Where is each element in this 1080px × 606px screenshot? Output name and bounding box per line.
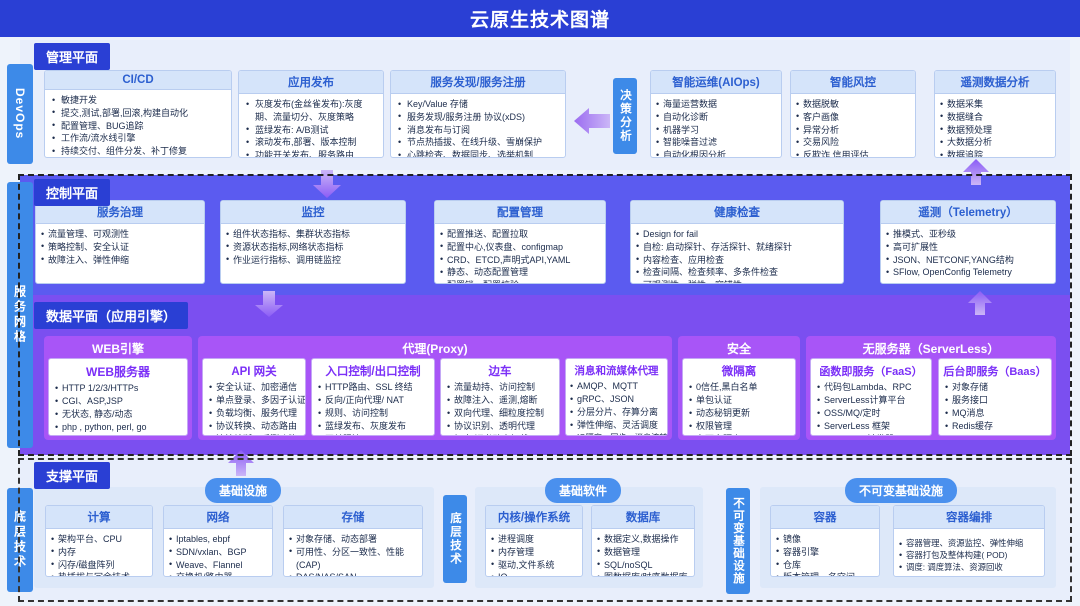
list-item: gRPC、JSON (570, 393, 662, 406)
list-item: 配置管理、BUG追踪 (50, 120, 226, 133)
arrow-down-to-data-plane (255, 291, 283, 317)
list-item: 协议转换、动态路由 (209, 420, 300, 433)
list-item: 自检: 启动探针、存活探针、就绪探针 (636, 241, 838, 254)
list-item: 容器引擎 (776, 546, 874, 559)
list-item: 内存 (51, 546, 147, 559)
card-message-stream-proxy-title: 消息和流媒体代理 (566, 359, 667, 380)
list-item: 弹性伸缩、灵活调度 (570, 419, 662, 432)
card-risk-control-title: 智能风控 (791, 71, 915, 94)
card-database-title: 数据库 (592, 506, 694, 529)
card-monitoring-title: 监控 (221, 201, 405, 224)
list-item: 对象存储 (945, 381, 1046, 394)
rail-underlying-tech: 底层技术 (7, 488, 33, 592)
card-ingress-egress-control-title: 入口控制/出口控制 (312, 359, 434, 381)
list-item: 动态秘钥更新 (689, 407, 790, 420)
list-item: AMQP、MQTT (570, 380, 662, 393)
list-item: 自动化诊断 (656, 111, 776, 124)
tag-immutable-infra-label: 不可变基础设施 (730, 497, 746, 585)
list-item: 代码包Lambda、RPC (817, 381, 926, 394)
list-item: 热插拔与冗余技术 (51, 571, 147, 577)
list-item: 流量管理、可观测性 (41, 228, 199, 241)
card-faas: 函数即服务（FaaS） 代码包Lambda、RPC ServerLess计算平台… (810, 358, 932, 436)
list-item: 智能噪音过滤 (656, 136, 776, 149)
card-cicd: CI/CD 敏捷开发 提交,测试,部署,回滚,构建自动化 配置管理、BUG追踪 … (44, 70, 232, 158)
card-compute-list: 架构平台、CPU 内存 闪存/磁盘阵列 热插拔与冗余技术 (51, 533, 147, 577)
list-item: 0信任,黑白名单 (689, 381, 790, 394)
card-telemetry-analytics-title: 遥测数据分析 (935, 71, 1055, 94)
card-network-title: 网络 (164, 506, 272, 529)
rail-devops-label: DevOps (13, 88, 27, 139)
card-web-server-title: WEB服务器 (49, 359, 187, 382)
card-telemetry-analytics: 遥测数据分析 数据采集 数据缝合 数据预处理 大数据分析 数据追踪 (934, 70, 1056, 158)
list-item: 调度: 调度算法、资源回收 (899, 562, 1039, 574)
card-service-discovery: 服务发现/服务注册 Key/Value 存储 服务发现/服务注册 协议(xDS)… (390, 70, 566, 158)
page-title-bar: 云原生技术图谱 (0, 0, 1080, 37)
list-item: 镜像 (776, 533, 874, 546)
card-health-check: 健康检查 Design for fail 自检: 启动探针、存活探针、就绪探针 … (630, 200, 844, 284)
arrow-up-to-data-plane (228, 450, 254, 476)
rail-service-mesh: 服务网格 (7, 182, 33, 448)
list-item: CRD、ETCD,声明式API,YAML (440, 254, 600, 267)
card-message-stream-proxy-list: AMQP、MQTT gRPC、JSON 分层分片、存算分离 弹性伸缩、灵活调度 … (570, 380, 662, 436)
card-cicd-title: CI/CD (45, 71, 231, 90)
list-item: 故障注入、弹性伸缩 (41, 254, 199, 267)
card-config-management: 配置管理 配置推送、配置拉取 配置中心,仪表盘、configmap CRD、ET… (434, 200, 606, 284)
card-monitoring-list: 组件状态指标、集群状态指标 资源状态指标,网络状态指标 作业运行指标、调用链监控 (226, 228, 400, 266)
list-item: 数据脱敏 (796, 98, 910, 111)
card-service-discovery-list: Key/Value 存储 服务发现/服务注册 协议(xDS) 消息发布与订阅 节… (396, 98, 560, 158)
list-item: JSON、NETCONF,YANG结构 (886, 254, 1050, 267)
card-compute-title: 计算 (46, 506, 152, 529)
list-item: 数据缝合 (940, 111, 1050, 124)
list-item: ServerLess计算平台 (817, 394, 926, 407)
card-message-stream-proxy: 消息和流媒体代理 AMQP、MQTT gRPC、JSON 分层分片、存算分离 弹… (565, 358, 668, 436)
list-item: Iptables, ebpf (169, 533, 267, 546)
list-item: SQL/noSQL (597, 559, 689, 572)
list-item: 海量运营数据 (656, 98, 776, 111)
list-item: NoSQL (945, 433, 1046, 436)
list-item: 灰度发布(金丝雀发布):灰度期、流量切分、灰度策略 (244, 98, 378, 124)
list-item: 权限管理 (689, 420, 790, 433)
list-item: 数据管理 (597, 546, 689, 559)
card-database-list: 数据定义,数据操作 数据管理 SQL/noSQL 图数据库/时序数据库 (597, 533, 689, 577)
list-item: 提交,测试,部署,回滚,构建自动化 (50, 107, 226, 120)
list-item: 滚动发布,部署、版本控制 (244, 136, 378, 149)
management-plane-tag: 管理平面 (34, 43, 110, 70)
card-cicd-list: 敏捷开发 提交,测试,部署,回滚,构建自动化 配置管理、BUG追踪 工作流/流水… (50, 94, 226, 158)
list-item: 仓库 (776, 559, 874, 572)
list-item: 推模式、亚秒级 (886, 228, 1050, 241)
card-service-governance: 服务治理 流量管理、可观测性 策略控制、安全认证 故障注入、弹性伸缩 (35, 200, 205, 284)
list-item: 无状态, 静态/动态 (55, 408, 182, 421)
tag-underlying-tech-label: 底层技术 (447, 512, 463, 566)
arrow-up-to-telemetry-analytics (963, 159, 989, 185)
card-risk-control-list: 数据脱敏 客户画像 异常分析 交易风险 反欺诈,信用评估 (796, 98, 910, 158)
card-container-orchestration-title: 容器编排 (894, 506, 1044, 529)
list-item: 双向代理、细粒度控制 (447, 407, 554, 420)
list-item: 大数据分析 (940, 136, 1050, 149)
card-aiops-title: 智能运维(AIOps) (651, 71, 781, 94)
list-item: 容器管理、资源监控、弹性伸缩 (899, 538, 1039, 550)
card-faas-list: 代码包Lambda、RPC ServerLess计算平台 OSS/MQ/定时 S… (817, 381, 926, 436)
card-storage: 存储 对象存储、动态部署 可用性、分区一致性、性能(CAP) DAS/NAS/S… (283, 505, 423, 577)
list-item: 交换机/路由器 (169, 571, 267, 577)
list-item: 数据采集 (940, 98, 1050, 111)
card-telemetry-list: 推模式、亚秒级 高可扩展性 JSON、NETCONF,YANG结构 SFlow,… (886, 228, 1050, 279)
list-item: 检查间隔、检查频率、多条件检查 (636, 266, 838, 279)
card-app-release-title: 应用发布 (239, 71, 383, 94)
card-baas-list: 对象存储 服务接口 MQ消息 Redis缓存 NoSQL (945, 381, 1046, 436)
card-container-list: 镜像 容器引擎 仓库 版本管理、名空间 (776, 533, 874, 577)
arrow-down-to-control (313, 170, 341, 198)
card-micro-segmentation-title: 微隔离 (683, 359, 795, 381)
card-kernel-os-list: 进程调度 内存管理 驱动,文件系统 IO (491, 533, 577, 577)
list-item: 单包认证 (689, 394, 790, 407)
rail-underlying-tech-label: 底层技术 (12, 510, 29, 570)
card-monitoring: 监控 组件状态指标、集群状态指标 资源状态指标,网络状态指标 作业运行指标、调用… (220, 200, 406, 284)
rail-devops: DevOps (7, 64, 33, 164)
list-item: 架构平台、CPU (51, 533, 147, 546)
list-item: HTTP/API 触发器 (817, 433, 926, 436)
list-item: 心跳检查、数据同步、选举机制 (396, 149, 560, 158)
card-ingress-egress-control: 入口控制/出口控制 HTTP路由、SSL 终结 反向/正向代理/ NAT 规则、… (311, 358, 435, 436)
list-item: 异常分析 (796, 124, 910, 137)
list-item: 加密,证书动态加载 (447, 433, 554, 436)
list-item: Weave、Flannel (169, 559, 267, 572)
rail-service-mesh-label: 服务网格 (12, 285, 29, 345)
list-item: 单点登录、多因子认证 (209, 394, 300, 407)
list-item: 驱动,文件系统 (491, 559, 577, 572)
list-item: 作业运行指标、调用链监控 (226, 254, 400, 267)
list-item: 规则、访问控制 (318, 407, 429, 420)
card-network: 网络 Iptables, ebpf SDN/vxlan、BGP Weave、Fl… (163, 505, 273, 577)
cloud-native-tech-map: 云原生技术图谱 管理平面 DevOps CI/CD 敏捷开发 提交,测试,部署,… (0, 0, 1080, 606)
list-item: ServerLess 框架 (817, 420, 926, 433)
list-item: 可用性、分区一致性、性能(CAP) (289, 546, 417, 572)
list-item: 闪存/磁盘阵列 (51, 559, 147, 572)
list-item: 交易风险 (796, 136, 910, 149)
list-item: IO (491, 571, 577, 577)
tag-decision-analysis: 决策分析 (613, 78, 637, 154)
card-telemetry: 遥测（Telemetry） 推模式、亚秒级 高可扩展性 JSON、NETCONF… (880, 200, 1056, 284)
card-storage-list: 对象存储、动态部署 可用性、分区一致性、性能(CAP) DAS/NAS/SAN (289, 533, 417, 577)
list-item: 进程调度 (491, 533, 577, 546)
card-service-discovery-title: 服务发现/服务注册 (391, 71, 565, 94)
card-telemetry-title: 遥测（Telemetry） (881, 201, 1055, 224)
list-item: DAS/NAS/SAN (289, 571, 417, 577)
list-item: IO隔离、同步、消息流转 (570, 432, 662, 436)
card-container-title: 容器 (771, 506, 879, 529)
list-item: 静态、动态配置管理 (440, 266, 600, 279)
card-api-gateway-title: API 网关 (203, 359, 305, 381)
list-item: MQ消息 (945, 407, 1046, 420)
list-item: 版本管理、名空间 (776, 571, 874, 577)
list-item: 蓝绿发布: A/B测试 (244, 124, 378, 137)
list-item: 客户画像 (796, 111, 910, 124)
tag-decision-analysis-label: 决策分析 (617, 89, 633, 143)
card-telemetry-analytics-list: 数据采集 数据缝合 数据预处理 大数据分析 数据追踪 (940, 98, 1050, 158)
data-plane-tag: 数据平面（应用引擎） (34, 302, 188, 329)
card-baas: 后台即服务（Baas） 对象存储 服务接口 MQ消息 Redis缓存 NoSQL (938, 358, 1052, 436)
card-baas-title: 后台即服务（Baas） (939, 359, 1051, 381)
list-item: 分层分片、存算分离 (570, 406, 662, 419)
list-item: php , python, perl, go (55, 421, 182, 434)
list-item: 流控熔断、遥测功能 (209, 433, 300, 436)
card-app-release-list: 灰度发布(金丝雀发布):灰度期、流量切分、灰度策略 蓝绿发布: A/B测试 滚动… (244, 98, 378, 158)
list-item: 配置推送、配置拉取 (440, 228, 600, 241)
card-sidecar-title: 边车 (441, 359, 559, 381)
card-health-check-list: Design for fail 自检: 启动探针、存活探针、就绪探针 内容检查、… (636, 228, 838, 284)
list-item: 工作流/流水线引擎 (50, 132, 226, 145)
list-item: 容器打包及整体构建( POD) (899, 550, 1039, 562)
list-item: 内容检查、应用检查 (636, 254, 838, 267)
pill-infrastructure: 基础设施 (205, 478, 281, 503)
list-item: 高可扩展性 (886, 241, 1050, 254)
card-container: 容器 镜像 容器引擎 仓库 版本管理、名空间 (770, 505, 880, 577)
list-item: 自动化根因分析 (656, 149, 776, 158)
card-micro-segmentation: 微隔离 0信任,黑白名单 单包认证 动态秘钥更新 权限管理 东西向隔离 (682, 358, 796, 436)
list-item: 协议识别、透明代理 (447, 420, 554, 433)
list-item: SFlow, OpenConfig Telemetry (886, 266, 1050, 279)
control-plane-tag: 控制平面 (34, 179, 110, 206)
list-item: Ruby, JavaScript (55, 434, 182, 436)
list-item: SDN/vxlan、BGP (169, 546, 267, 559)
list-item: 组件状态指标、集群状态指标 (226, 228, 400, 241)
list-item: 负载均衡、服务代理 (209, 407, 300, 420)
card-storage-title: 存储 (284, 506, 422, 529)
card-sidecar-list: 流量劫持、访问控制 故障注入、遥测,熔断 双向代理、细粒度控制 协议识别、透明代… (447, 381, 554, 436)
list-item: 持续交付、组件分发、补丁修复 (50, 145, 226, 158)
pill-immutable-infrastructure: 不可变基础设施 (845, 478, 957, 503)
list-item: 消息发布与订阅 (396, 124, 560, 137)
card-aiops-list: 海量运营数据 自动化诊断 机器学习 智能噪音过滤 自动化根因分析 (656, 98, 776, 158)
list-item: 节点热插拔、在线升级、雪崩保护 (396, 136, 560, 149)
card-web-server-list: HTTP 1/2/3/HTTPs CGI、ASP,JSP 无状态, 静态/动态 … (55, 382, 182, 436)
card-config-management-title: 配置管理 (435, 201, 605, 224)
tag-immutable-infra: 不可变基础设施 (726, 488, 750, 594)
arrow-up-right-data-plane (968, 291, 992, 315)
card-web-server: WEB服务器 HTTP 1/2/3/HTTPs CGI、ASP,JSP 无状态,… (48, 358, 188, 436)
list-item: 机器学习 (656, 124, 776, 137)
list-item: 蓝绿发布、灰度发布 (318, 420, 429, 433)
card-sidecar: 边车 流量劫持、访问控制 故障注入、遥测,熔断 双向代理、细粒度控制 协议识别、… (440, 358, 560, 436)
list-item: 对象存储、动态部署 (289, 533, 417, 546)
list-item: Redis缓存 (945, 420, 1046, 433)
card-container-orchestration-list: 容器管理、资源监控、弹性伸缩 容器打包及整体构建( POD) 调度: 调度算法、… (899, 538, 1039, 574)
card-service-governance-list: 流量管理、可观测性 策略控制、安全认证 故障注入、弹性伸缩 (41, 228, 199, 266)
card-network-list: Iptables, ebpf SDN/vxlan、BGP Weave、Flann… (169, 533, 267, 577)
list-item: OSS/MQ/定时 (817, 407, 926, 420)
list-item: 敏捷开发 (50, 94, 226, 107)
support-plane-tag: 支撑平面 (34, 462, 110, 489)
list-item: CGI、ASP,JSP (55, 395, 182, 408)
arrow-left-to-discovery (574, 108, 610, 134)
card-database: 数据库 数据定义,数据操作 数据管理 SQL/noSQL 图数据库/时序数据库 (591, 505, 695, 577)
list-item: Design for fail (636, 228, 838, 241)
card-ingress-egress-control-list: HTTP路由、SSL 终结 反向/正向代理/ NAT 规则、访问控制 蓝绿发布、… (318, 381, 429, 436)
card-health-check-title: 健康检查 (631, 201, 843, 224)
list-item: Key/Value 存储 (396, 98, 560, 111)
card-risk-control: 智能风控 数据脱敏 客户画像 异常分析 交易风险 反欺诈,信用评估 (790, 70, 916, 158)
list-item: 数据定义,数据操作 (597, 533, 689, 546)
list-item: 服务接口 (945, 394, 1046, 407)
list-item: 反欺诈,信用评估 (796, 149, 910, 158)
card-micro-segmentation-list: 0信任,黑白名单 单包认证 动态秘钥更新 权限管理 东西向隔离 (689, 381, 790, 436)
card-api-gateway-list: 安全认证、加密通信 单点登录、多因子认证 负载均衡、服务代理 协议转换、动态路由… (209, 381, 300, 436)
card-compute: 计算 架构平台、CPU 内存 闪存/磁盘阵列 热插拔与冗余技术 (45, 505, 153, 577)
card-config-management-list: 配置推送、配置拉取 配置中心,仪表盘、configmap CRD、ETCD,声明… (440, 228, 600, 284)
tag-underlying-tech: 底层技术 (443, 495, 467, 583)
list-item: 配置中心,仪表盘、configmap (440, 241, 600, 254)
card-api-gateway: API 网关 安全认证、加密通信 单点登录、多因子认证 负载均衡、服务代理 协议… (202, 358, 306, 436)
list-item: 配置锁、配置校验 (440, 279, 600, 284)
card-container-orchestration: 容器编排 容器管理、资源监控、弹性伸缩 容器打包及整体构建( POD) 调度: … (893, 505, 1045, 577)
list-item: 反向/正向代理/ NAT (318, 394, 429, 407)
list-item: HTTP路由、SSL 终结 (318, 381, 429, 394)
list-item: 安全认证、加密通信 (209, 381, 300, 394)
card-aiops: 智能运维(AIOps) 海量运营数据 自动化诊断 机器学习 智能噪音过滤 自动化… (650, 70, 782, 158)
list-item: 数据追踪 (940, 149, 1050, 158)
list-item: 功能开关发布、服务路由 (244, 149, 378, 158)
list-item: 可观测性、弹性、容错性 (636, 279, 838, 284)
list-item: 东西向隔离 (689, 433, 790, 436)
card-app-release: 应用发布 灰度发布(金丝雀发布):灰度期、流量切分、灰度策略 蓝绿发布: A/B… (238, 70, 384, 158)
list-item: 故障注入、遥测,熔断 (447, 394, 554, 407)
list-item: 内存管理 (491, 546, 577, 559)
card-kernel-os-title: 内核/操作系统 (486, 506, 582, 529)
card-kernel-os: 内核/操作系统 进程调度 内存管理 驱动,文件系统 IO (485, 505, 583, 577)
list-item: 网关限流 (318, 433, 429, 436)
list-item: HTTP 1/2/3/HTTPs (55, 382, 182, 395)
list-item: 流量劫持、访问控制 (447, 381, 554, 394)
list-item: 策略控制、安全认证 (41, 241, 199, 254)
card-faas-title: 函数即服务（FaaS） (811, 359, 931, 381)
list-item: 数据预处理 (940, 124, 1050, 137)
list-item: 服务发现/服务注册 协议(xDS) (396, 111, 560, 124)
list-item: 图数据库/时序数据库 (597, 571, 689, 577)
page-title: 云原生技术图谱 (470, 5, 610, 32)
pill-basic-software: 基础软件 (545, 478, 621, 503)
list-item: 资源状态指标,网络状态指标 (226, 241, 400, 254)
